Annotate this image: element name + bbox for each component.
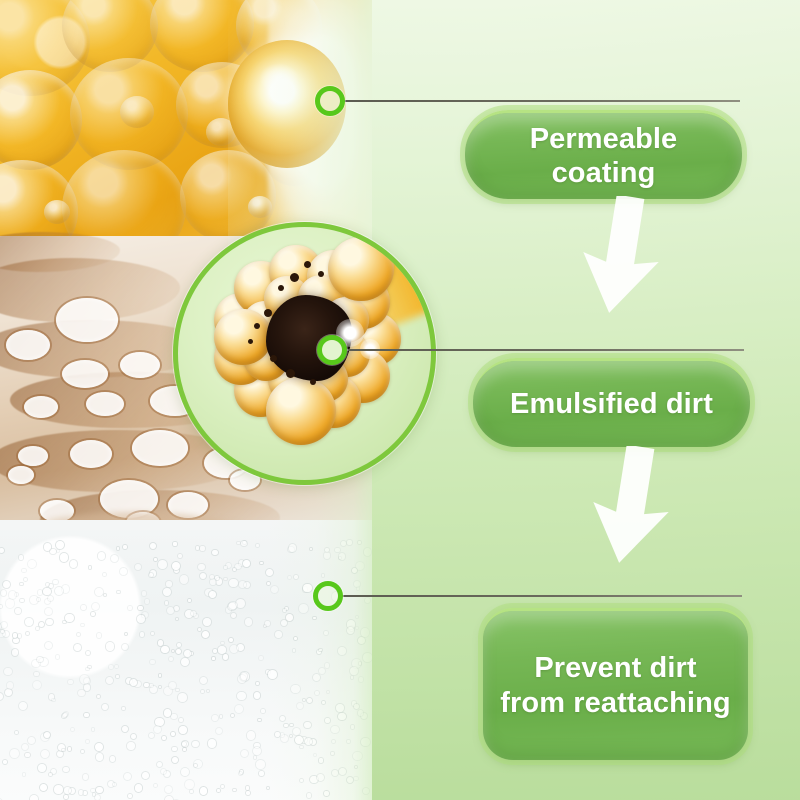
foam-speck-shape <box>275 732 280 737</box>
foam-speck-shape <box>243 560 250 567</box>
foam-speck-shape <box>325 548 329 552</box>
foam-speck-shape <box>96 787 102 793</box>
connector-node-2[interactable] <box>317 335 347 365</box>
step-label-2: Emulsified dirt <box>496 387 727 421</box>
foam-speck-shape <box>84 713 89 718</box>
connector-line-1 <box>340 100 740 102</box>
mol-shape <box>214 309 272 365</box>
foam-speck-shape <box>336 704 344 712</box>
foam-speck-shape <box>237 542 239 544</box>
foam-speck-shape <box>63 621 65 623</box>
foam-speck-shape <box>359 677 364 682</box>
foam-speck-shape <box>237 644 244 651</box>
foam-speck-shape <box>92 728 94 730</box>
foam-speck-shape <box>179 718 183 722</box>
foam-speck-shape <box>235 564 240 569</box>
foam-speck-shape <box>237 692 245 700</box>
foam-speck-shape <box>254 692 260 698</box>
foam-speck-shape <box>22 569 25 572</box>
foam-speck-shape <box>275 631 281 637</box>
foam-speck-shape <box>98 552 105 559</box>
drop-shape <box>44 200 70 224</box>
foam-speck-shape <box>62 749 64 751</box>
foam-speck-shape <box>212 657 215 660</box>
foam-speck-shape <box>28 737 35 744</box>
foam-speck-shape <box>364 548 372 556</box>
foam-speck-shape <box>347 540 351 544</box>
dirt-splash-shape <box>310 379 316 385</box>
foam-speck-shape <box>19 555 24 560</box>
foam-speck-shape <box>13 633 17 637</box>
foam-speck-shape <box>303 584 312 593</box>
foam-speck-shape <box>286 614 293 621</box>
foam-speck-shape <box>322 701 325 704</box>
foam-speck-shape <box>332 740 335 743</box>
film-hole-shape <box>56 298 118 342</box>
foam-speck-shape <box>145 599 150 604</box>
magnified-micelle-view <box>173 222 436 485</box>
foam-speck-shape <box>65 614 74 623</box>
film-hole-shape <box>62 360 108 388</box>
foam-speck-shape <box>299 604 308 613</box>
mol-shape <box>266 377 336 445</box>
dirt-splash-shape <box>248 339 253 344</box>
foam-speck-shape <box>161 646 169 654</box>
foam-speck-shape <box>135 564 141 570</box>
foam-speck-shape <box>164 709 171 716</box>
foam-speck-shape <box>149 684 153 688</box>
foam-speck-shape <box>212 715 217 720</box>
foam-speck-shape <box>6 599 14 607</box>
foam-speck-shape <box>123 545 127 549</box>
foam-speck-shape <box>56 655 60 659</box>
dirt-splash-shape <box>286 369 295 378</box>
step-label-3-line-2: from reattaching <box>500 687 730 719</box>
foam-speck-shape <box>142 772 149 779</box>
foam-speck-shape <box>229 638 233 642</box>
foam-speck-shape <box>79 790 83 794</box>
foam-speck-shape <box>128 606 132 610</box>
foam-speck-shape <box>268 670 277 679</box>
foam-speck-shape <box>102 704 108 710</box>
foam-speck-shape <box>236 599 245 608</box>
foam-speck-shape <box>294 637 297 640</box>
dirt-splash-shape <box>254 323 260 329</box>
foam-speck-shape <box>46 583 49 586</box>
foam-speck-shape <box>198 564 205 571</box>
foam-speck-shape <box>351 725 354 728</box>
foam-speck-shape <box>55 587 63 595</box>
foam-speck-shape <box>192 741 199 748</box>
foam-speck-shape <box>325 718 330 723</box>
foam-speck-shape <box>165 796 173 800</box>
foam-speck-shape <box>190 790 193 793</box>
foam-speck-shape <box>218 646 225 653</box>
foam-speck-shape <box>259 771 263 775</box>
foam-speck-shape <box>9 591 17 599</box>
foam-speck-shape <box>38 590 42 594</box>
foam-speck-shape <box>247 731 255 739</box>
foam-speck-shape <box>0 605 2 608</box>
foam-speck-shape <box>200 546 204 550</box>
foam-speck-shape <box>202 631 209 638</box>
foam-speck-shape <box>171 732 175 736</box>
foam-speck-shape <box>341 541 346 546</box>
foam-speck-shape <box>149 573 153 577</box>
foam-speck-shape <box>224 578 226 580</box>
step-pill-emulsified-dirt[interactable]: Emulsified dirt <box>473 358 750 447</box>
foam-speck-shape <box>216 728 222 734</box>
foam-speck-shape <box>353 752 362 761</box>
foam-speck-shape <box>37 657 43 663</box>
foam-speck-shape <box>293 728 300 735</box>
foam-speck-shape <box>10 749 19 758</box>
arrow-down-icon-1 <box>573 196 669 318</box>
foam-speck-shape <box>38 764 46 772</box>
foam-speck-shape <box>256 682 259 685</box>
foam-speck-shape <box>291 685 299 693</box>
foam-speck-shape <box>26 632 29 635</box>
connector-line-3 <box>338 595 742 597</box>
foam-speck-shape <box>188 599 191 602</box>
foam-speck-shape <box>293 649 296 652</box>
film-hole-shape <box>86 392 124 416</box>
foam-speck-shape <box>223 654 228 659</box>
arrow-down-icon-2 <box>583 446 679 568</box>
foam-speck-shape <box>80 675 89 684</box>
foam-speck-shape <box>261 709 265 713</box>
foam-speck-shape <box>183 748 186 751</box>
foam-speck-shape <box>338 647 346 655</box>
foam-speck-shape <box>173 542 176 545</box>
foam-speck-shape <box>49 773 52 776</box>
foam-speck-shape <box>231 613 236 618</box>
foam-speck-shape <box>36 627 39 630</box>
foam-speck-shape <box>43 588 51 596</box>
foam-speck-shape <box>28 560 36 568</box>
foam-speck-shape <box>290 724 293 727</box>
foam-speck-shape <box>307 793 312 798</box>
foam-speck-shape <box>3 581 10 588</box>
foam-speck-shape <box>4 668 12 676</box>
foam-speck-shape <box>201 690 204 693</box>
foam-speck-shape <box>165 786 172 793</box>
step-label-3: Prevent dirt from reattaching <box>486 651 744 719</box>
foam-speck-shape <box>229 602 237 610</box>
foam-speck-shape <box>89 566 91 568</box>
foam-speck-shape <box>363 788 369 794</box>
foam-speck-shape <box>37 598 40 601</box>
foam-speck-shape <box>150 660 155 665</box>
foam-speck-shape <box>74 644 81 651</box>
foam-speck-shape <box>354 777 358 781</box>
foam-speck-shape <box>39 622 44 627</box>
foam-speck-shape <box>86 651 90 655</box>
step-label-1: Permeable coating <box>465 122 742 190</box>
foam-speck-shape <box>154 558 157 561</box>
foam-speck-shape <box>350 667 358 675</box>
foam-speck-shape <box>95 588 103 596</box>
foam-speck-shape <box>335 548 339 552</box>
connector-line-2 <box>342 349 744 351</box>
foam-speck-shape <box>256 544 259 547</box>
film-hole-shape <box>132 430 188 466</box>
foam-speck-shape <box>165 601 169 605</box>
foam-speck-shape <box>196 546 199 549</box>
foam-speck-shape <box>289 544 296 551</box>
foam-speck-shape <box>271 586 278 593</box>
foam-speck-shape <box>54 785 63 794</box>
foam-speck-shape <box>97 695 100 698</box>
foam-speck-shape <box>144 683 149 688</box>
foam-speck-shape <box>1 590 6 595</box>
foam-speck-shape <box>120 568 127 575</box>
foam-speck-shape <box>178 554 182 558</box>
foam-speck-shape <box>135 784 142 791</box>
foam-speck-shape <box>154 784 157 787</box>
foam-speck-shape <box>178 693 187 702</box>
foam-speck-shape <box>60 553 69 562</box>
foam-speck-shape <box>212 550 218 556</box>
foam-speck-shape <box>115 665 118 668</box>
foam-speck-shape <box>127 742 135 750</box>
foam-speck-shape <box>106 677 113 684</box>
step-pill-permeable-coating[interactable]: Permeable coating <box>465 110 742 199</box>
foam-speck-shape <box>25 753 29 757</box>
foam-speck-shape <box>52 699 55 702</box>
dirt-splash-shape <box>304 261 311 268</box>
foam-speck-shape <box>81 605 86 610</box>
foam-speck-shape <box>305 738 312 745</box>
foam-speck-shape <box>356 562 364 570</box>
foam-speck-shape <box>84 684 91 691</box>
foam-speck-shape <box>56 541 64 549</box>
foam-speck-shape <box>363 653 372 662</box>
foam-speck-shape <box>149 733 154 738</box>
film-hole-shape <box>8 466 34 484</box>
foam-speck-shape <box>15 608 20 613</box>
foam-speck-shape <box>209 591 216 598</box>
foam-speck-shape <box>158 560 167 569</box>
foam-speck-shape <box>181 658 189 666</box>
foam-speck-shape <box>339 553 345 559</box>
foam-speck-shape <box>297 703 303 709</box>
foam-speck-shape <box>283 609 286 612</box>
foam-speck-shape <box>13 638 18 643</box>
foam-speck-shape <box>97 633 101 637</box>
foam-speck-shape <box>347 627 354 634</box>
foam-speck-shape <box>20 599 23 602</box>
foam-speck-shape <box>198 628 201 631</box>
foam-speck-shape <box>64 795 68 799</box>
foam-speck-shape <box>116 675 119 678</box>
foam-speck-shape <box>319 758 324 763</box>
foam-speck-shape <box>91 789 94 792</box>
step-label-3-line-1: Prevent dirt <box>534 652 696 684</box>
foam-speck-shape <box>46 619 52 625</box>
drop-shape <box>120 96 154 128</box>
foam-speck-shape <box>246 786 249 789</box>
connector-node-1[interactable] <box>315 86 345 116</box>
infographic-canvas: Permeable coating Emulsified dirt Preven… <box>0 0 800 800</box>
foam-speck-shape <box>361 738 369 746</box>
dirt-splash-shape <box>290 273 299 282</box>
foam-speck-shape <box>176 649 181 654</box>
foam-speck-shape <box>351 676 353 678</box>
dirt-splash-shape <box>270 355 277 362</box>
foam-speck-shape <box>95 743 103 751</box>
foam-speck-shape <box>200 787 207 794</box>
foam-speck-shape <box>158 640 164 646</box>
foam-speck-shape <box>179 726 187 734</box>
foam-speck-shape <box>358 541 361 544</box>
foam-speck-shape <box>122 707 125 710</box>
foam-speck-shape <box>172 757 178 763</box>
foam-speck-shape <box>159 686 161 688</box>
dirt-splash-shape <box>278 285 284 291</box>
dirt-splash-shape <box>264 309 272 317</box>
foam-speck-shape <box>95 795 100 800</box>
foam-speck-shape <box>229 579 237 587</box>
foam-speck-shape <box>256 760 265 769</box>
foam-speck-shape <box>34 672 39 677</box>
film-hole-shape <box>18 446 48 466</box>
foam-speck-shape <box>140 632 144 636</box>
foam-speck-shape <box>166 581 171 586</box>
foam-speck-shape <box>68 680 72 684</box>
foam-speck-shape <box>284 724 287 727</box>
film-hole-shape <box>24 396 58 418</box>
foam-speck-shape <box>169 682 176 689</box>
film-hole-shape <box>120 352 160 378</box>
foam-speck-shape <box>331 752 333 754</box>
foam-speck-shape <box>265 621 269 625</box>
foam-speck-shape <box>259 656 263 660</box>
foam-speck-shape <box>203 618 211 626</box>
foam-speck-shape <box>239 581 246 588</box>
step-pill-prevent-reattaching[interactable]: Prevent dirt from reattaching <box>483 608 748 760</box>
foam-speck-shape <box>63 713 67 717</box>
foam-speck-shape <box>25 618 33 626</box>
foam-speck-shape <box>109 665 113 669</box>
foam-speck-shape <box>361 628 370 637</box>
foam-speck-shape <box>258 719 260 721</box>
mol-shape <box>328 237 394 301</box>
dirt-splash-shape <box>318 271 324 277</box>
foam-speck-shape <box>19 702 27 710</box>
foam-speck-shape <box>154 726 161 733</box>
foam-speck-shape <box>91 612 95 616</box>
foam-speck-shape <box>138 606 142 610</box>
foam-speck-shape <box>220 715 223 718</box>
foam-speck-shape <box>172 747 176 751</box>
foam-speck-shape <box>70 560 78 568</box>
foam-speck-shape <box>103 573 106 576</box>
foam-speck-shape <box>86 740 89 743</box>
foam-speck-shape <box>324 791 329 796</box>
foam-speck-shape <box>315 691 319 695</box>
foam-speck-shape <box>78 690 84 696</box>
foam-speck-shape <box>208 739 216 747</box>
foam-speck-shape <box>241 673 247 679</box>
foam-speck-shape <box>150 543 156 549</box>
foam-speck-shape <box>83 774 88 779</box>
film-hole-shape <box>70 440 112 468</box>
foam-speck-shape <box>30 795 38 800</box>
foam-speck-shape <box>7 682 13 688</box>
foam-speck-shape <box>44 732 50 738</box>
film-hole-shape <box>6 330 50 360</box>
foam-speck-shape <box>210 579 215 584</box>
foam-speck-shape <box>185 780 194 789</box>
foam-speck-shape <box>280 733 284 737</box>
foam-speck-shape <box>53 580 57 584</box>
connector-node-3[interactable] <box>313 581 343 611</box>
foam-speck-shape <box>172 650 174 652</box>
foam-speck-shape <box>241 541 246 546</box>
foam-speck-shape <box>50 549 55 554</box>
foam-speck-shape <box>230 645 238 653</box>
